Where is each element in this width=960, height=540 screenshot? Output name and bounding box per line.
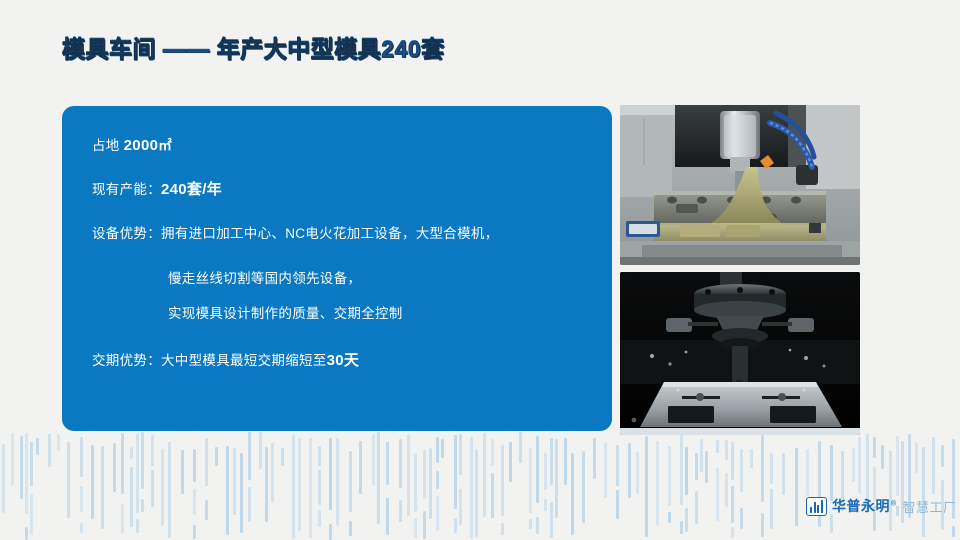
cnc-milling-coolant-photo bbox=[620, 105, 860, 265]
decorative-bar bbox=[181, 450, 184, 494]
decorative-bar bbox=[571, 453, 574, 535]
leadtime-label: 交期优势：大中型模具最短交期缩短至 bbox=[92, 353, 327, 368]
decorative-bar bbox=[30, 442, 33, 486]
decorative-bar bbox=[889, 451, 892, 531]
decorative-bar bbox=[564, 438, 567, 485]
decorative-bar bbox=[680, 521, 683, 534]
decorative-bar bbox=[429, 448, 432, 519]
decorative-bar bbox=[48, 434, 51, 467]
decorative-bar bbox=[205, 438, 208, 486]
decorative-bar bbox=[695, 491, 698, 524]
slide-root: 模具车间 —— 年产大中型模具240套 占地 2000㎡ 现有产能：240套/年… bbox=[0, 0, 960, 540]
decorative-bar bbox=[329, 524, 332, 540]
decorative-bar bbox=[725, 440, 728, 460]
decorative-bar bbox=[259, 432, 262, 469]
decorative-bar bbox=[359, 441, 362, 494]
capacity-label: 现有产能： bbox=[92, 182, 161, 197]
decorative-bar bbox=[20, 436, 23, 499]
decorative-bar bbox=[281, 448, 284, 466]
decorative-bar bbox=[685, 447, 688, 495]
decorative-bar bbox=[136, 519, 139, 533]
panel-line-equipment-1: 设备优势：拥有进口加工中心、NC电火花加工设备，大型合模机， bbox=[92, 227, 499, 241]
decorative-bar bbox=[501, 523, 504, 535]
decorative-bar bbox=[436, 471, 439, 489]
decorative-bar bbox=[881, 445, 884, 469]
decorative-bar bbox=[483, 433, 486, 517]
decorative-bar bbox=[593, 438, 596, 479]
decorative-bar bbox=[11, 433, 14, 486]
decorative-bar bbox=[761, 435, 764, 502]
decorative-bar bbox=[67, 442, 70, 518]
decorative-bar bbox=[2, 444, 5, 513]
decorative-bar bbox=[858, 437, 861, 494]
page-title: 模具车间 —— 年产大中型模具240套 bbox=[62, 30, 445, 64]
decorative-bar bbox=[372, 434, 375, 485]
decorative-bar bbox=[852, 448, 855, 482]
decorative-bar bbox=[941, 445, 944, 467]
decorative-bar bbox=[529, 519, 532, 529]
decorative-bar bbox=[731, 442, 734, 480]
decorative-bar bbox=[248, 432, 251, 480]
decorative-bar bbox=[423, 511, 426, 539]
decorative-bar bbox=[121, 504, 124, 533]
capacity-value: 240套/年 bbox=[161, 181, 222, 198]
decorative-bar bbox=[475, 450, 478, 537]
decorative-bar bbox=[80, 486, 83, 512]
decorative-bar bbox=[215, 447, 218, 466]
decorative-bar bbox=[536, 436, 539, 503]
decorative-bar bbox=[91, 445, 94, 519]
decorative-bar bbox=[193, 489, 196, 515]
panel-line-capacity: 现有产能：240套/年 bbox=[92, 182, 222, 197]
decorative-bar bbox=[529, 448, 532, 513]
decorative-bar bbox=[25, 527, 28, 540]
decorative-bar bbox=[700, 439, 703, 472]
decorative-bar bbox=[628, 443, 631, 498]
decorative-bar bbox=[740, 508, 743, 529]
decorative-bar bbox=[130, 447, 133, 459]
decorative-bar bbox=[459, 489, 462, 525]
decorative-bar bbox=[705, 451, 708, 483]
decorative-bar bbox=[136, 434, 139, 513]
decorative-bar bbox=[193, 525, 196, 539]
decorative-bar bbox=[740, 449, 743, 492]
decorative-bar bbox=[616, 490, 619, 519]
decorative-bar bbox=[770, 453, 773, 484]
decorative-bar bbox=[922, 447, 925, 537]
decorative-bar bbox=[761, 513, 764, 537]
decorative-bar bbox=[806, 449, 809, 496]
decorative-bar bbox=[668, 512, 671, 523]
decorative-bar bbox=[141, 432, 144, 489]
brand-logo: 华普永明® 智慧工厂 bbox=[806, 494, 957, 518]
decorative-bar bbox=[731, 486, 734, 523]
decorative-bar bbox=[399, 500, 402, 522]
decorative-bar bbox=[318, 510, 321, 527]
decorative-bar bbox=[716, 468, 719, 521]
decorative-bar bbox=[151, 435, 154, 466]
decorative-bar bbox=[36, 438, 39, 455]
decorative-bar bbox=[750, 449, 753, 468]
decorative-bar bbox=[265, 447, 268, 522]
decorative-bar bbox=[318, 470, 321, 505]
decorative-bar bbox=[491, 473, 494, 518]
decorative-bar bbox=[386, 498, 389, 535]
decorative-bar bbox=[399, 439, 402, 488]
decorative-bar bbox=[121, 433, 124, 494]
decorative-bar bbox=[130, 467, 133, 527]
decorative-bar bbox=[80, 437, 83, 477]
decorative-bar bbox=[656, 441, 659, 526]
decorative-bar bbox=[782, 453, 785, 495]
panel-line-leadtime: 交期优势：大中型模具最短交期缩短至30天 bbox=[92, 353, 359, 368]
decorative-bar bbox=[731, 527, 734, 538]
decorative-bar bbox=[544, 453, 547, 490]
decorative-bar bbox=[161, 449, 164, 526]
panel-line-equipment-2: 慢走丝线切割等国内领先设备， bbox=[168, 272, 361, 286]
decorative-bar bbox=[151, 470, 154, 507]
logo-company-name: 华普永明® bbox=[832, 496, 898, 516]
decorative-bar bbox=[318, 446, 321, 466]
decorative-bar bbox=[436, 496, 439, 531]
decorative-bar bbox=[336, 438, 339, 526]
decorative-bar bbox=[604, 443, 607, 498]
decorative-bar bbox=[830, 445, 833, 501]
area-unit: ㎡ bbox=[158, 138, 172, 153]
decorative-bar bbox=[582, 451, 585, 523]
decorative-bar bbox=[636, 452, 639, 494]
decorative-bar bbox=[57, 434, 60, 451]
decorative-bar bbox=[414, 518, 417, 538]
decorative-bar bbox=[271, 443, 274, 502]
logo-company-text: 华普永明 bbox=[832, 499, 890, 515]
decorative-bar bbox=[441, 439, 444, 458]
decorative-bar bbox=[470, 437, 473, 539]
decorative-bar bbox=[349, 451, 352, 512]
decorative-bar bbox=[240, 453, 243, 533]
cnc-spindle-dark-photo bbox=[620, 272, 860, 435]
decorative-bar bbox=[645, 436, 648, 537]
decorative-bar bbox=[519, 432, 522, 463]
decorative-bar bbox=[695, 453, 698, 480]
decorative-bar bbox=[873, 437, 876, 458]
decorative-bar bbox=[501, 445, 504, 516]
info-panel bbox=[62, 106, 612, 431]
decorative-bar bbox=[536, 517, 539, 534]
decorative-bar bbox=[113, 443, 116, 492]
decorative-bar bbox=[30, 494, 33, 535]
decorative-bar bbox=[329, 438, 332, 510]
decorative-bar bbox=[436, 437, 439, 463]
decorative-bar bbox=[716, 440, 719, 453]
decorative-bar bbox=[454, 518, 457, 533]
decorative-bar bbox=[309, 438, 312, 538]
decorative-bar bbox=[668, 446, 671, 506]
panel-line-equipment-3: 实现模具设计制作的质量、交期全控制 bbox=[168, 307, 403, 321]
decorative-bar bbox=[101, 446, 104, 529]
decorative-bar bbox=[168, 442, 171, 538]
decorative-bar bbox=[454, 435, 457, 509]
decorative-bar bbox=[952, 526, 955, 537]
decorative-bar bbox=[233, 448, 236, 515]
decorative-bar bbox=[193, 449, 196, 482]
logo-trademark: ® bbox=[890, 499, 898, 507]
decorative-bar bbox=[795, 448, 798, 526]
decorative-bar bbox=[932, 437, 935, 494]
panel-line-area: 占地 2000㎡ bbox=[92, 138, 172, 153]
decorative-bar bbox=[414, 453, 417, 512]
leadtime-value: 30天 bbox=[327, 352, 360, 369]
decorative-bar bbox=[770, 489, 773, 529]
decorative-bar bbox=[685, 508, 688, 532]
decorative-bar bbox=[896, 436, 899, 496]
decorative-bar bbox=[555, 439, 558, 518]
decorative-bar bbox=[407, 435, 410, 516]
decorative-bar bbox=[491, 439, 494, 466]
decorative-bar bbox=[349, 521, 352, 536]
decorative-bar bbox=[550, 438, 553, 485]
logo-bars-icon bbox=[806, 497, 827, 516]
decorative-bar bbox=[386, 442, 389, 485]
decorative-bar bbox=[423, 450, 426, 499]
decorative-bar bbox=[915, 442, 918, 473]
decorative-bar bbox=[25, 433, 28, 514]
decorative-bar bbox=[248, 487, 251, 522]
decorative-bar bbox=[725, 473, 728, 507]
decorative-bar bbox=[616, 445, 619, 486]
decorative-bar bbox=[377, 432, 380, 524]
decorative-bar bbox=[298, 438, 301, 531]
decorative-bar bbox=[550, 502, 553, 538]
decorative-bar bbox=[459, 434, 462, 475]
decorative-bar bbox=[292, 435, 295, 539]
area-label: 占地 bbox=[92, 138, 124, 153]
decorative-bar bbox=[680, 434, 683, 505]
decorative-bar bbox=[205, 500, 208, 520]
decorative-bar bbox=[226, 446, 229, 535]
decorative-bar bbox=[141, 499, 144, 512]
decorative-bar-band bbox=[0, 432, 960, 540]
area-value: 2000 bbox=[124, 137, 159, 154]
decorative-bar bbox=[80, 523, 83, 533]
decorative-bar bbox=[544, 499, 547, 511]
logo-subtitle: 智慧工厂 bbox=[903, 497, 957, 516]
decorative-bar bbox=[509, 442, 512, 482]
